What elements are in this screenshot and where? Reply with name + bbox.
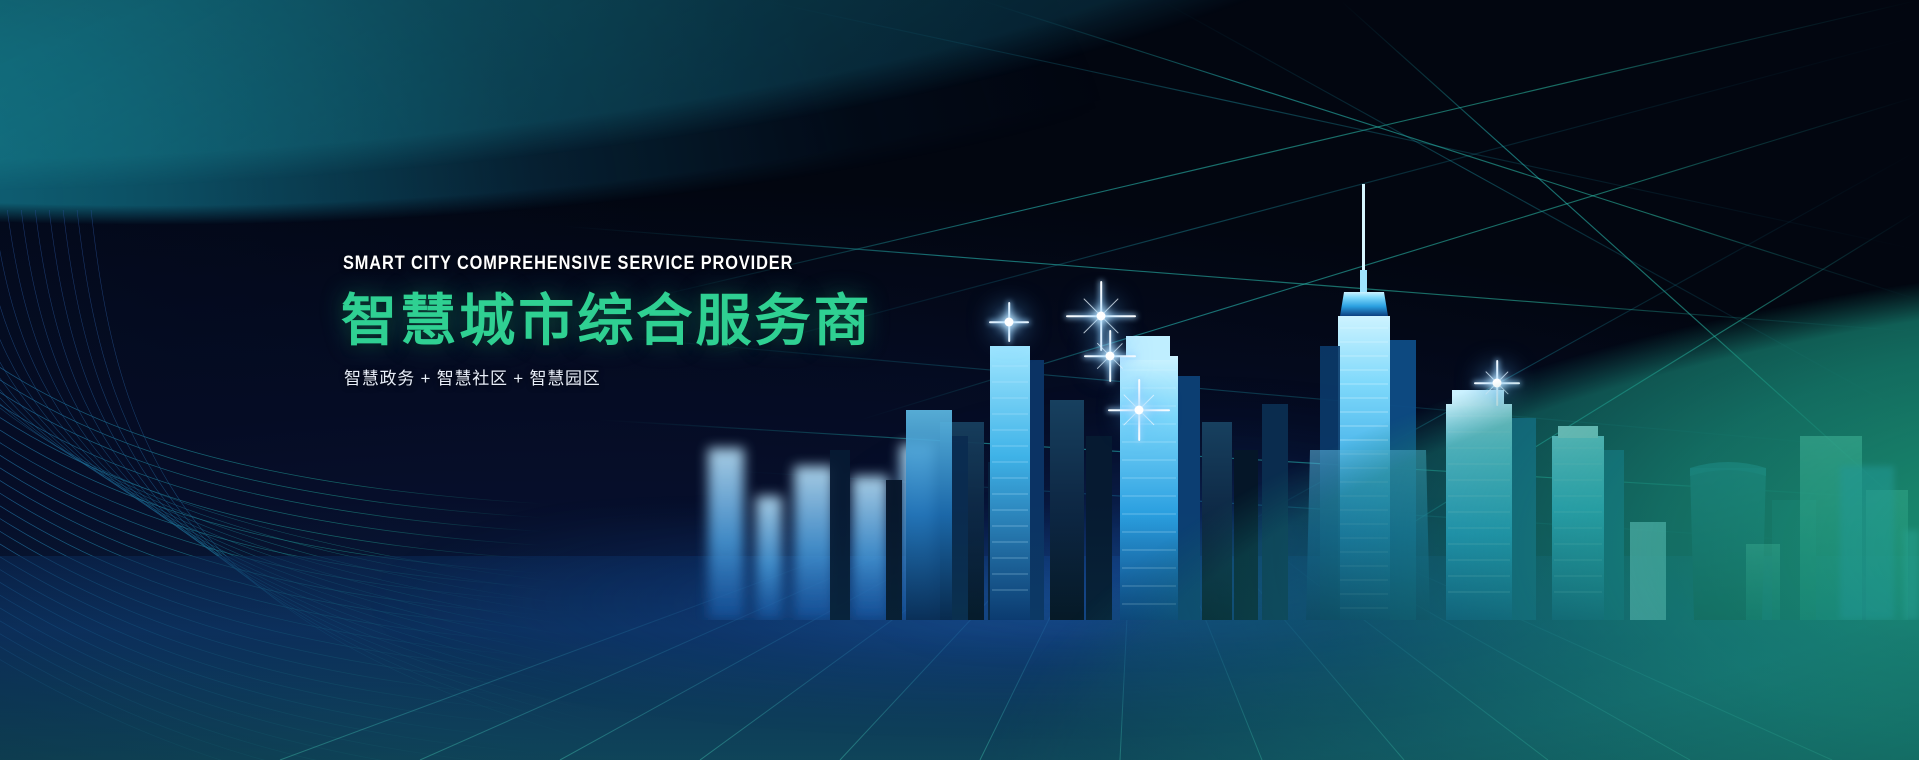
- hero-subline: 智慧政务 + 智慧社区 + 智慧园区: [344, 364, 1101, 389]
- hero-banner: SMART CITY COMPREHENSIVE SERVICE PROVIDE…: [0, 0, 1919, 760]
- ground-reflection-glow: [330, 520, 1849, 760]
- perspective-ground-grid: [0, 556, 1919, 760]
- hero-headline: 智慧城市综合服务商: [341, 291, 1101, 350]
- hero-eyebrow: SMART CITY COMPREHENSIVE SERVICE PROVIDE…: [343, 254, 995, 273]
- hero-copy-block: SMART CITY COMPREHENSIVE SERVICE PROVIDE…: [341, 254, 1101, 389]
